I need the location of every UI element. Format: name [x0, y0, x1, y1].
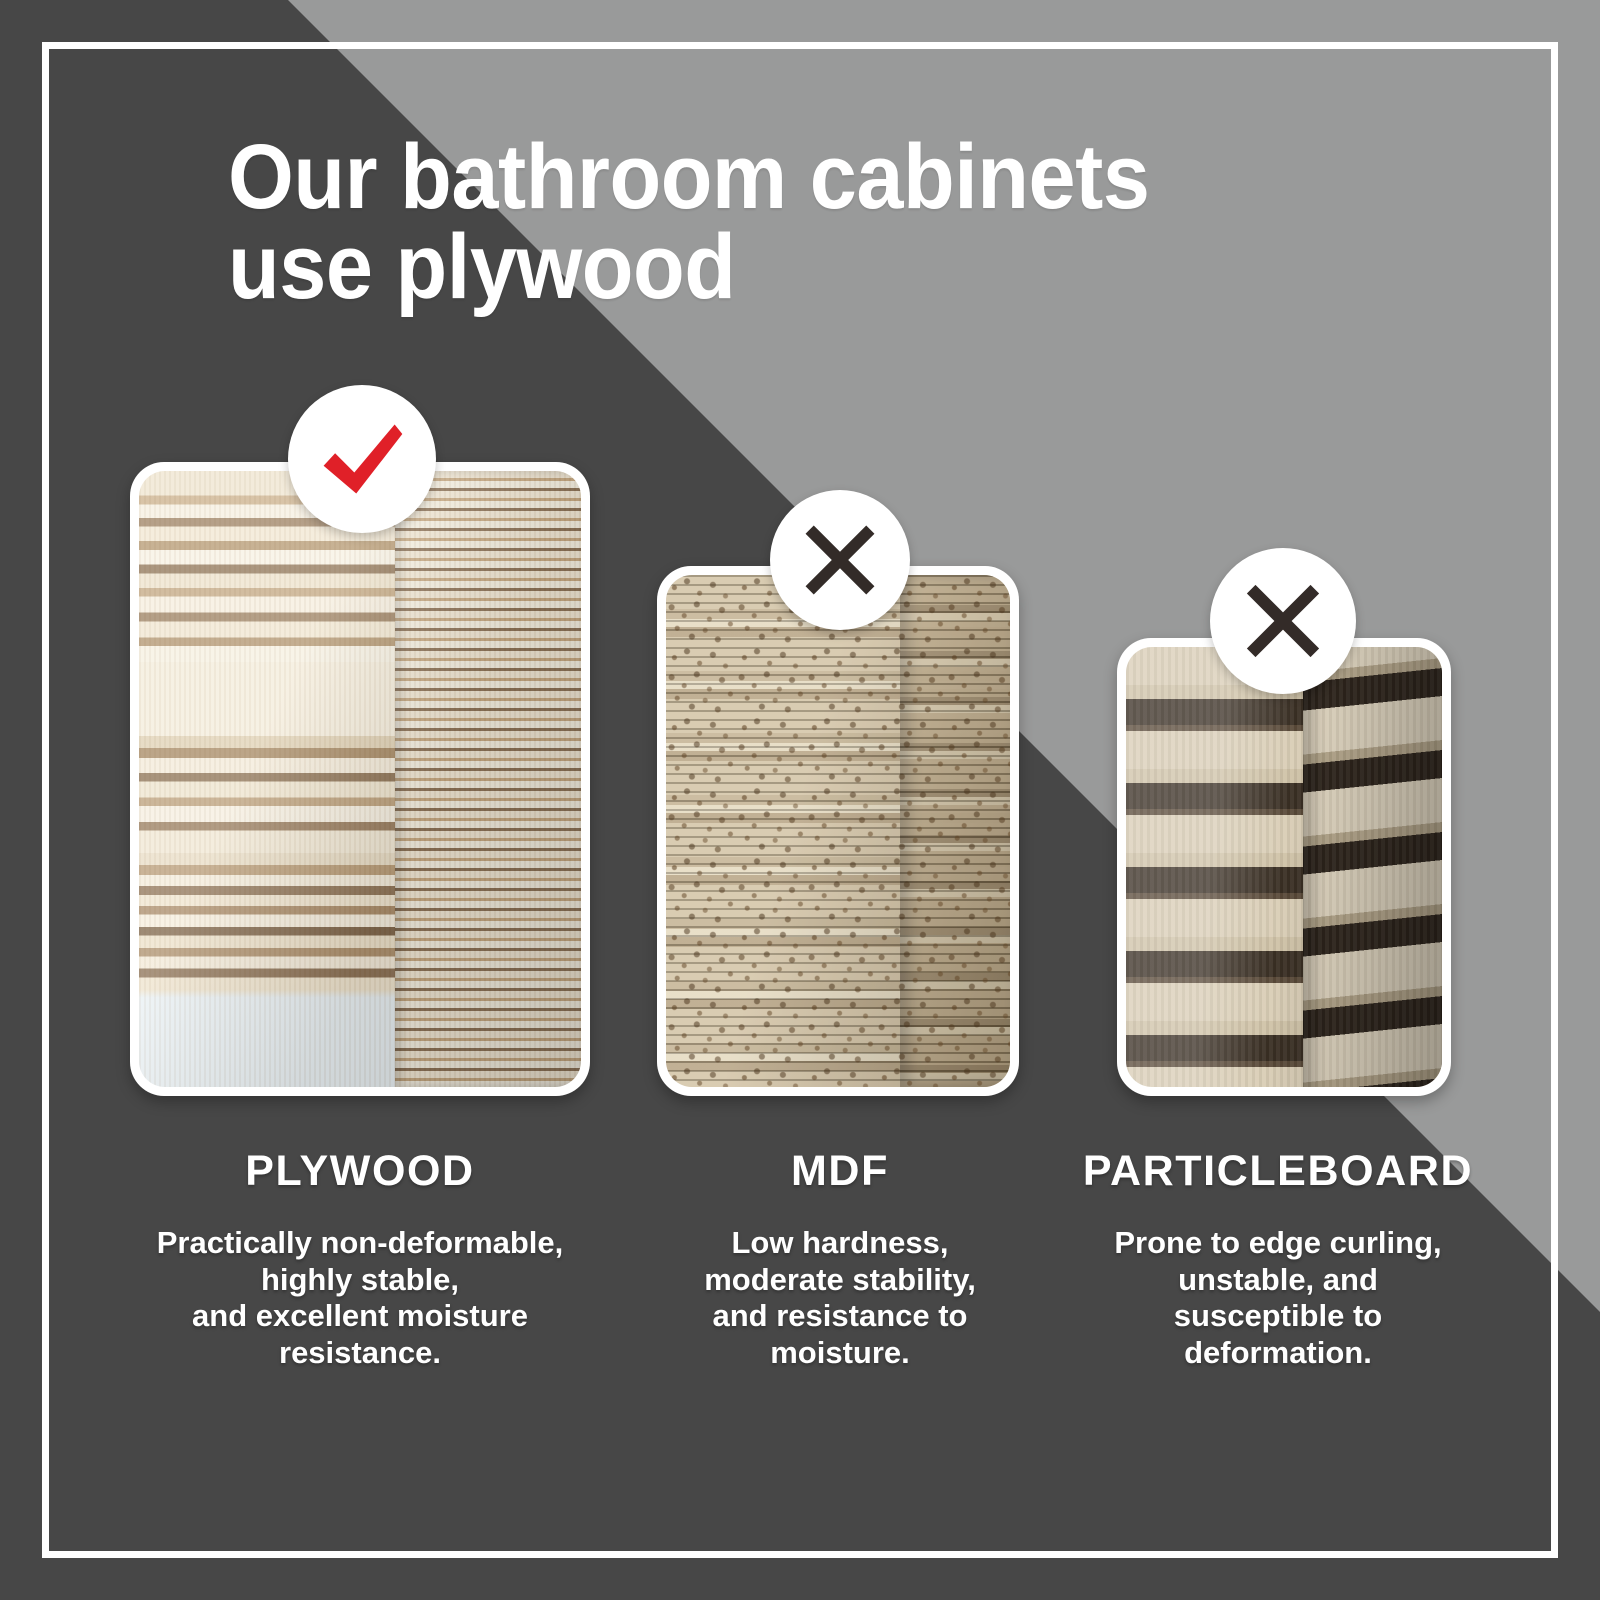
badge-particleboard-rejected — [1210, 548, 1356, 694]
badge-plywood-approved — [288, 385, 436, 533]
cross-icon — [1240, 578, 1326, 664]
material-card-plywood[interactable] — [130, 462, 590, 1096]
caption-mdf: MDF Low hardness, moderate stability, an… — [672, 1148, 1008, 1372]
material-card-mdf[interactable] — [657, 566, 1019, 1096]
material-description-plywood: Practically non-deformable, highly stabl… — [60, 1225, 660, 1371]
material-description-mdf: Low hardness, moderate stability, and re… — [672, 1225, 1008, 1371]
infographic-poster: Our bathroom cabinets use plywood — [0, 0, 1600, 1600]
mdf-photo — [666, 575, 1010, 1087]
material-description-particleboard: Prone to edge curling, unstable, and sus… — [1028, 1225, 1528, 1371]
particleboard-photo — [1126, 647, 1442, 1087]
caption-plywood: PLYWOOD Practically non-deformable, high… — [60, 1148, 660, 1372]
material-card-particleboard[interactable] — [1117, 638, 1451, 1096]
material-title-plywood: PLYWOOD — [60, 1148, 660, 1195]
caption-particleboard: PARTICLEBOARD Prone to edge curling, uns… — [1028, 1148, 1528, 1372]
plywood-photo — [139, 471, 581, 1087]
material-title-particleboard: PARTICLEBOARD — [1028, 1148, 1528, 1195]
cross-icon — [799, 519, 881, 601]
badge-mdf-rejected — [770, 490, 910, 630]
material-title-mdf: MDF — [672, 1148, 1008, 1195]
check-icon — [314, 411, 410, 507]
